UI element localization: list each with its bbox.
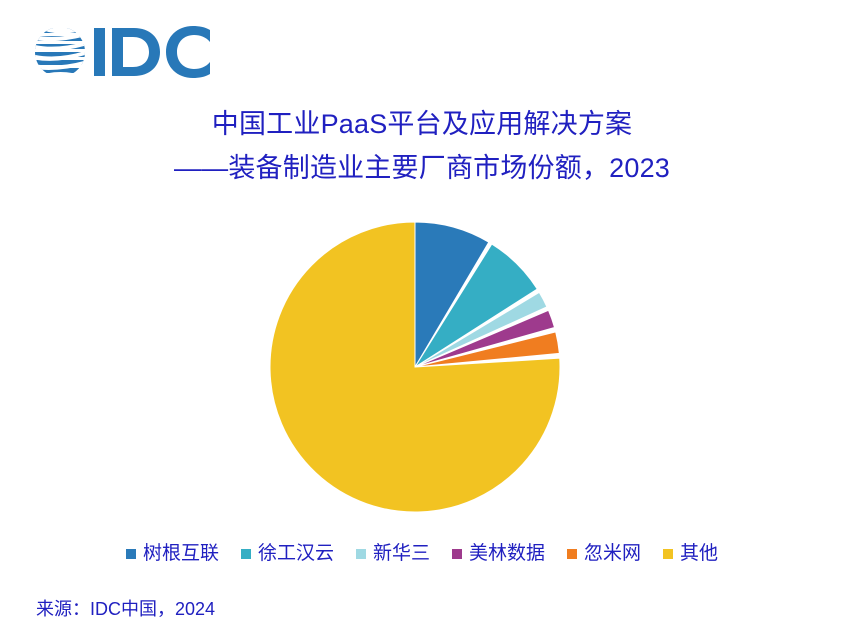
source-note: 来源：IDC中国，2024 — [36, 600, 215, 618]
chart-legend: 树根互联 徐工汉云 新华三 美林数据 忽米网 其他 — [0, 544, 844, 563]
idc-wordmark — [94, 26, 210, 78]
pie-chart — [0, 212, 844, 524]
legend-item-shugen[interactable]: 树根互联 — [126, 544, 219, 563]
legend-label-xinhuasan: 新华三 — [373, 544, 430, 563]
legend-item-humi[interactable]: 忽米网 — [567, 544, 641, 563]
legend-swatch-xinhuasan — [356, 549, 366, 559]
idc-logo — [32, 24, 232, 80]
legend-swatch-humi — [567, 549, 577, 559]
legend-label-humi: 忽米网 — [584, 544, 641, 563]
legend-label-meilin: 美林数据 — [469, 544, 545, 563]
legend-swatch-xugong — [241, 549, 251, 559]
idc-globe-icon — [32, 24, 94, 80]
legend-swatch-meilin — [452, 549, 462, 559]
legend-label-xugong: 徐工汉云 — [258, 544, 334, 563]
legend-swatch-others — [663, 549, 673, 559]
legend-item-meilin[interactable]: 美林数据 — [452, 544, 545, 563]
legend-label-shugen: 树根互联 — [143, 544, 219, 563]
pie-slice-group — [270, 222, 560, 512]
page-title: 中国工业PaaS平台及应用解决方案 ——装备制造业主要厂商市场份额，2023 — [0, 103, 844, 190]
legend-item-others[interactable]: 其他 — [663, 544, 718, 563]
idc-logo-svg — [32, 24, 232, 80]
title-line-1: 中国工业PaaS平台及应用解决方案 — [0, 103, 844, 147]
slide-canvas: 中国工业PaaS平台及应用解决方案 ——装备制造业主要厂商市场份额，2023 树… — [0, 0, 844, 643]
legend-swatch-shugen — [126, 549, 136, 559]
legend-label-others: 其他 — [680, 544, 718, 563]
pie-chart-svg — [268, 212, 578, 524]
legend-item-xinhuasan[interactable]: 新华三 — [356, 544, 430, 563]
legend-item-xugong[interactable]: 徐工汉云 — [241, 544, 334, 563]
title-line-2: ——装备制造业主要厂商市场份额，2023 — [0, 147, 844, 191]
